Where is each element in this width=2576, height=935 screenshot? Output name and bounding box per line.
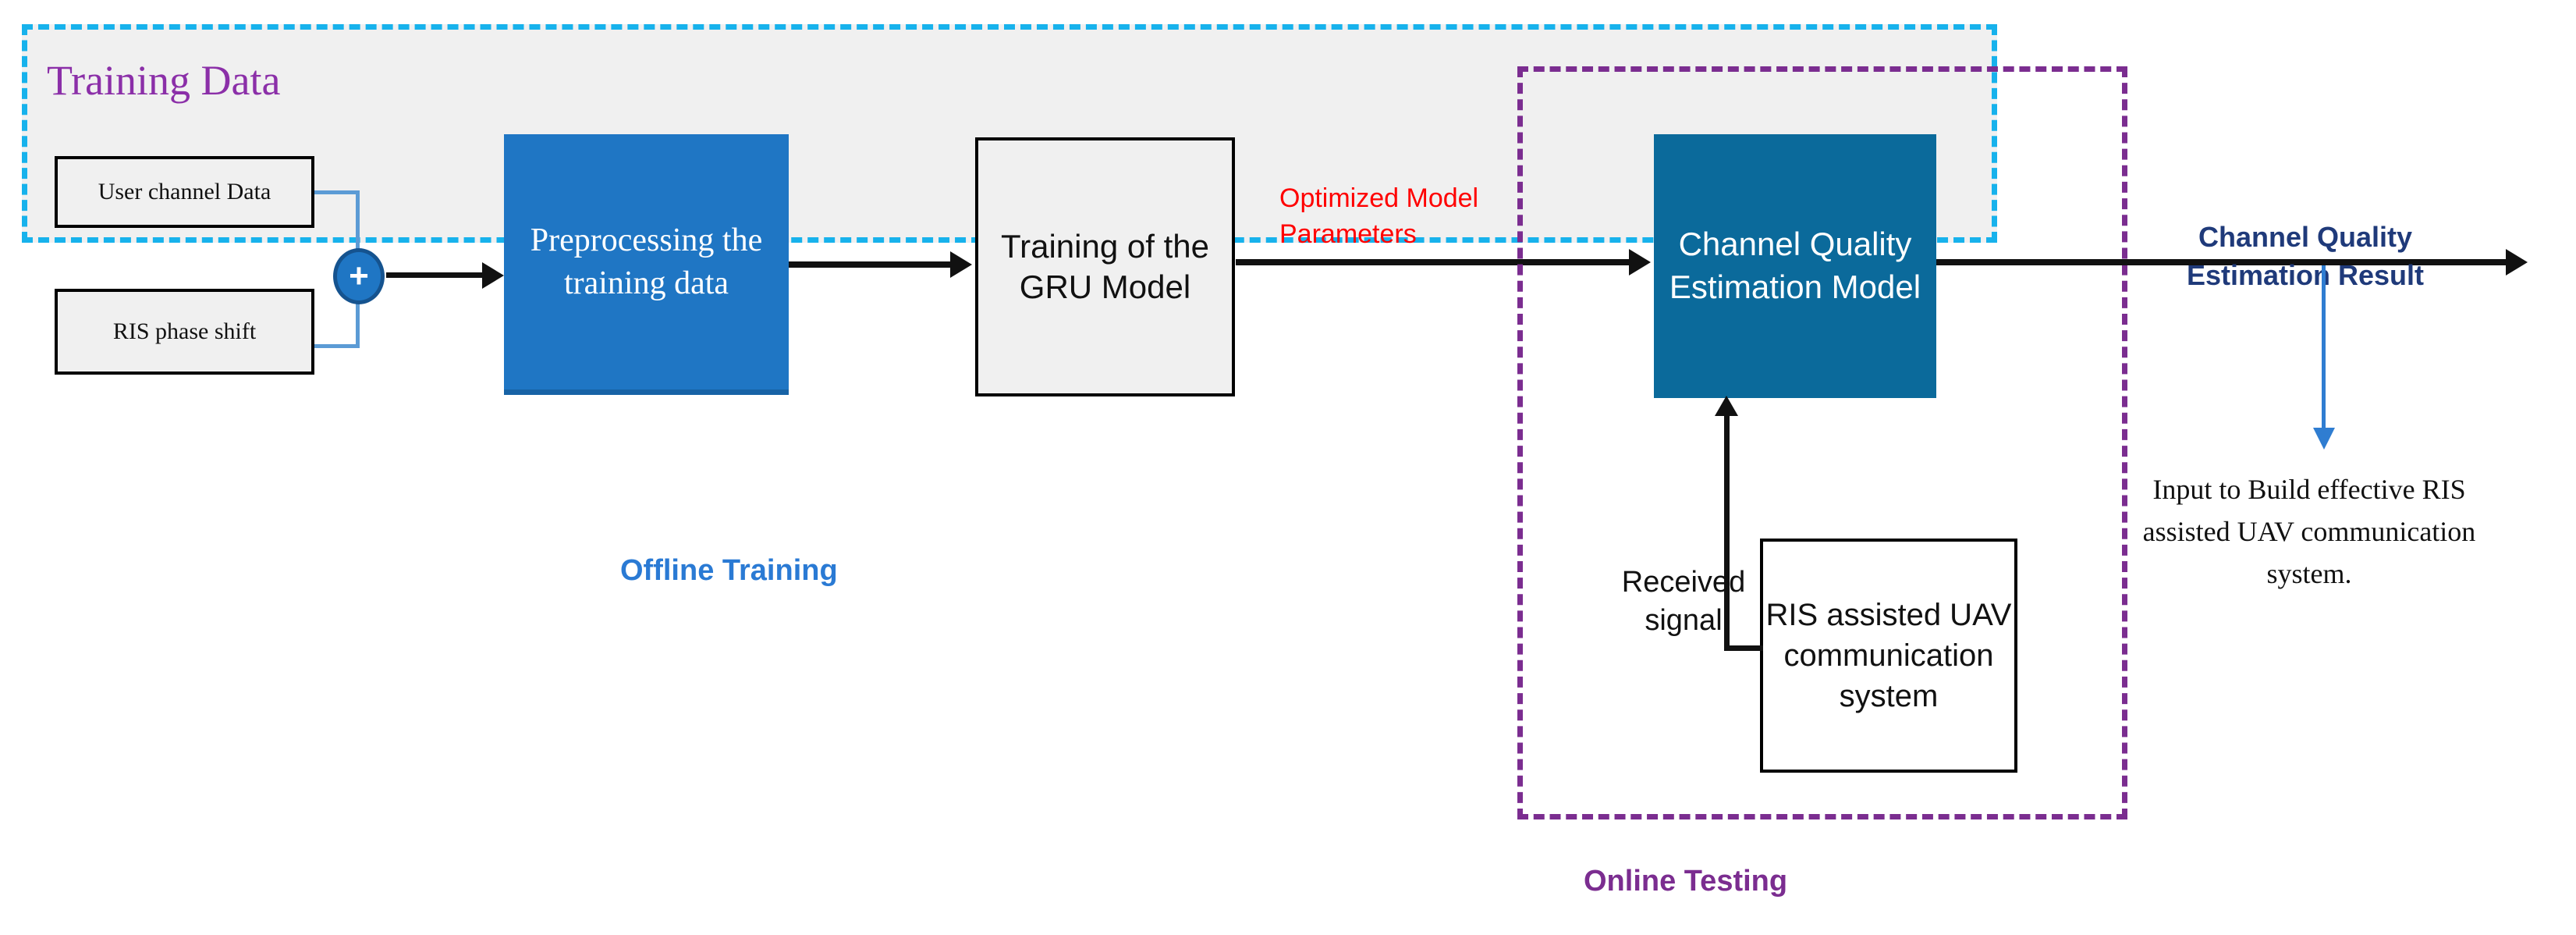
arrow-received-signal-horizontal	[1724, 645, 1763, 651]
wire-ris-phase-vertical	[356, 300, 360, 347]
node-user-channel-data: User channel Data	[55, 156, 314, 228]
sum-junction-node: +	[333, 248, 385, 304]
wire-ris-phase-to-sum	[314, 344, 360, 348]
edge-label-channel-quality-result: Channel Quality Estimation Result	[2177, 219, 2434, 294]
wire-user-channel-vertical	[356, 190, 360, 253]
node-gru-training: Training of the GRU Model	[975, 137, 1235, 396]
training-data-title: Training Data	[47, 56, 280, 105]
node-ris-assisted-uav-system: RIS assisted UAV communication system	[1760, 539, 2017, 773]
offline-training-caption: Offline Training	[620, 554, 838, 588]
edge-label-optimized-model-parameters: Optimized Model Parameters	[1279, 181, 1482, 253]
arrow-cqem-to-result-head	[2506, 249, 2528, 276]
diagram-canvas: Training Data User channel Data RIS phas…	[0, 0, 2576, 935]
note-input-to-build: Input to Build effective RIS assisted UA…	[2141, 468, 2477, 595]
arrow-result-to-note-line	[2322, 265, 2326, 431]
edge-label-received-signal: Received signal	[1609, 563, 1758, 641]
arrow-sum-to-preprocessing-head	[482, 262, 504, 289]
node-ris-phase-shift: RIS phase shift	[55, 289, 314, 375]
wire-user-channel-to-sum	[314, 190, 360, 194]
arrow-sum-to-preprocessing-line	[386, 272, 484, 278]
arrow-preprocessing-to-gru-head	[950, 251, 972, 278]
arrow-result-to-note-head	[2313, 428, 2335, 450]
arrow-received-signal-head	[1715, 396, 1738, 416]
node-channel-quality-estimation-model: Channel Quality Estimation Model	[1654, 134, 1936, 398]
node-preprocessing: Preprocessing the training data	[504, 134, 789, 395]
arrow-preprocessing-to-gru-line	[789, 261, 953, 268]
online-testing-caption: Online Testing	[1584, 865, 1787, 898]
